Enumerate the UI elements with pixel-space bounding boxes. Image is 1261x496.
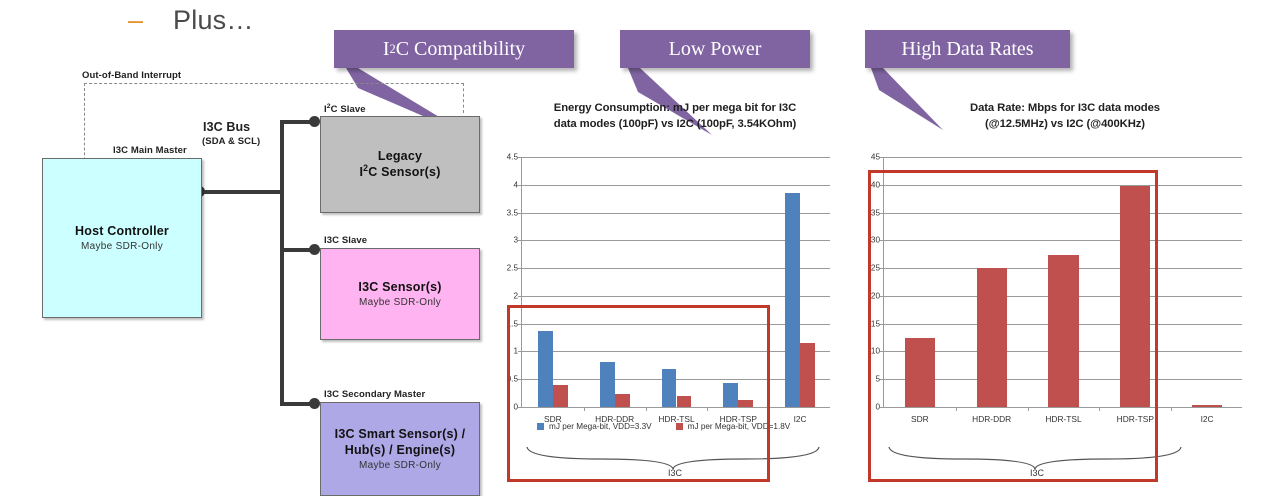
gridline [522,240,830,241]
node-subtitle: Maybe SDR-Only [359,297,441,308]
node-subtitle: Maybe SDR-Only [359,460,441,471]
gridline [884,157,1242,158]
junction-dot-i3c-sensor [309,244,320,255]
chart-title: Data Rate: Mbps for I3C data modes (@12.… [915,100,1215,133]
junction-dot-smart-sensor [309,398,320,409]
y-axis-tick-label: 4.5 [507,153,518,162]
node-title-line2: I2C Sensor(s) [359,165,440,180]
callout-label: Low Power [620,30,810,68]
node-title-line1: I3C Smart Sensor(s) / [335,427,466,442]
gridline [522,268,830,269]
node-host-controller[interactable]: Host Controller Maybe SDR-Only [42,158,202,318]
highlight-box [868,170,1158,482]
y-axis-tickmark [518,213,522,214]
node-title: Host Controller [75,224,169,239]
node-i3c-sensor[interactable]: I3C Sensor(s) Maybe SDR-Only [320,248,480,340]
bar-i2c-0 [785,193,800,407]
y-axis-tick-label: 45 [871,153,880,162]
bullet-dash-icon: – [128,7,143,34]
junction-dot-legacy [309,116,320,127]
caption-post: C Slave [331,104,366,115]
node-legacy-i2c-sensor[interactable]: Legacy I2C Sensor(s) [320,116,480,213]
bar-i2c-0 [1192,405,1222,407]
block-diagram: Out-of-Band Interrupt I3C Bus (SDA & SCL… [0,58,480,482]
oob-dashed-line-h [84,83,464,84]
chart-title-line2: (@12.5MHz) vs I2C (@400KHz) [915,116,1215,132]
gridline [522,296,830,297]
wire-bus-trunk [280,120,284,406]
y-axis-tick-label: 2.5 [507,264,518,273]
x-axis-separator [1171,407,1172,411]
chart-title-line2: data modes (100pF) vs I2C (100pF, 3.54KO… [525,116,825,132]
node-caption-i2c-slave: I2C Slave [324,103,366,115]
y-axis-tickmark [518,185,522,186]
node-subtitle: Maybe SDR-Only [81,241,163,252]
bullet-text: Plus… [173,7,254,34]
bus-label: I3C Bus [203,120,250,134]
callout-label: High Data Rates [865,30,1070,68]
wire-host-to-bus [199,190,284,194]
y-axis-tickmark [518,296,522,297]
node-caption-main-master: I3C Main Master [113,145,187,156]
x-axis-tick-label: I2C [1201,414,1214,424]
y-axis-tickmark [518,157,522,158]
node-caption-secondary-master: I3C Secondary Master [324,389,425,400]
bus-sublabel: (SDA & SCL) [202,136,260,147]
y-axis-tickmark [880,157,884,158]
callout-low-power: Low Power [620,30,810,68]
y-axis-tick-label: 3.5 [507,208,518,217]
chart-title-line1: Data Rate: Mbps for I3C data modes [915,100,1215,116]
node-caption-i3c-slave: I3C Slave [324,235,367,246]
bar-i2c-1 [800,343,815,407]
node-title: I3C Sensor(s) [358,280,441,295]
node-title-line2: Hub(s) / Engine(s) [345,443,456,458]
datarate-chart: Data Rate: Mbps for I3C data modes (@12.… [855,100,1255,482]
oob-interrupt-label: Out-of-Band Interrupt [82,70,181,81]
chart-title: Energy Consumption: mJ per mega bit for … [525,100,825,133]
gridline [522,213,830,214]
y-axis-tickmark [518,268,522,269]
gridline [522,185,830,186]
chart-title-line1: Energy Consumption: mJ per mega bit for … [525,100,825,116]
node-title-line1: Legacy [378,149,422,164]
energy-chart: Energy Consumption: mJ per mega bit for … [495,100,845,482]
y-axis-tickmark [518,240,522,241]
callout-high-data-rates: High Data Rates [865,30,1070,68]
oob-dashed-line-right [463,83,464,113]
highlight-box [507,305,770,482]
gridline [522,157,830,158]
title-post: C Sensor(s) [368,165,440,179]
